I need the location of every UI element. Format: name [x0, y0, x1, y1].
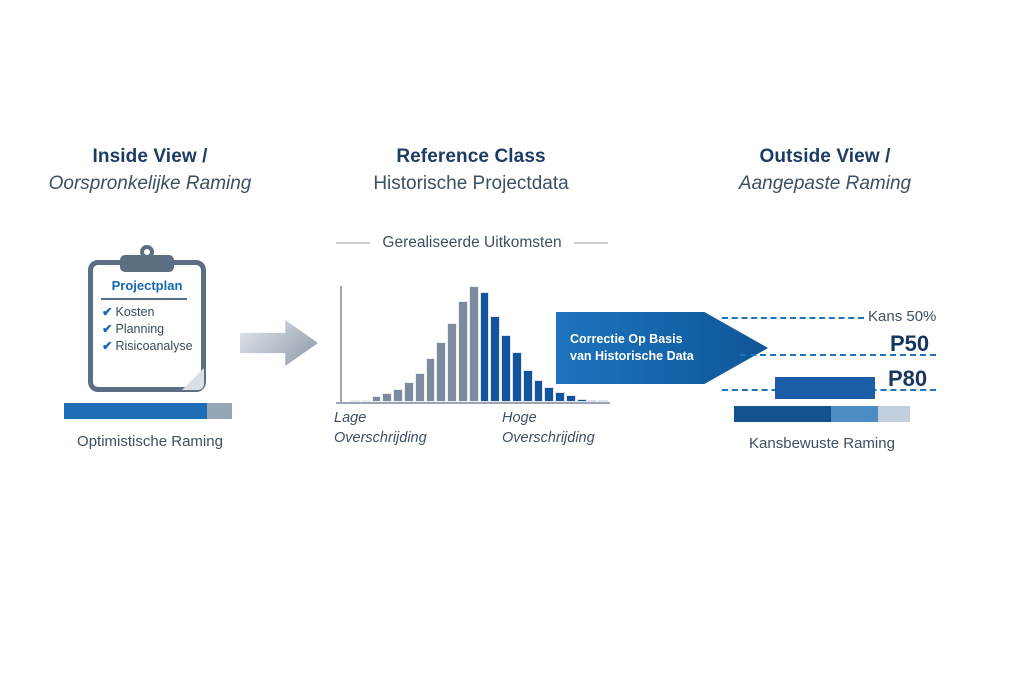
estimate-segment-contingency — [831, 406, 879, 422]
histogram-bar — [393, 389, 403, 402]
estimate-segment-reserve — [878, 406, 910, 422]
p80-indicator-bar — [775, 377, 875, 399]
optimistic-estimate-caption: Optimistische Raming — [20, 433, 280, 450]
histogram-bar — [382, 393, 392, 402]
checklist-item-label: Planning — [115, 322, 164, 336]
histogram-bar — [598, 400, 608, 402]
histogram-header: Gerealiseerde Uitkomsten — [336, 234, 608, 252]
reference-class-title: Reference Class — [340, 144, 602, 170]
checklist-item: ✔Planning — [102, 321, 198, 338]
histogram-bar — [350, 400, 360, 402]
clipboard-illustration: Projectplan ✔Kosten ✔Planning ✔Risicoana… — [88, 252, 206, 392]
check-icon: ✔ — [102, 322, 112, 336]
projectplan-divider — [101, 298, 187, 300]
axis-label-low: Lage Overschrijding — [334, 408, 427, 448]
inside-view-title: Inside View / — [20, 144, 280, 170]
header-rule-left — [336, 242, 370, 244]
axis-label-low-line2: Overschrijding — [334, 428, 427, 448]
histogram-bar — [372, 396, 382, 402]
histogram-bar — [458, 301, 468, 402]
axis-label-high: Hoge Overschrijding — [502, 408, 595, 448]
column-heading-reference-class: Reference Class Historische Projectdata — [340, 144, 602, 197]
histogram-bar — [588, 400, 598, 402]
checklist-item-label: Kosten — [115, 305, 154, 319]
correction-arrow-line2: van Historische Data — [570, 348, 720, 365]
check-icon: ✔ — [102, 339, 112, 353]
histogram-y-axis — [340, 286, 342, 404]
histogram-bar — [447, 323, 457, 402]
infographic-canvas: Inside View / Oorspronkelijke Raming Ref… — [0, 0, 1024, 683]
p80-label: P80 — [888, 366, 927, 392]
histogram-bar — [436, 342, 446, 402]
histogram-bar — [404, 382, 414, 402]
correction-arrow-text: Correctie Op Basis van Historische Data — [556, 331, 720, 365]
histogram-bar — [501, 335, 511, 402]
check-icon: ✔ — [102, 305, 112, 319]
axis-label-high-line2: Overschrijding — [502, 428, 595, 448]
axis-label-low-line1: Lage — [334, 408, 427, 428]
optimistic-estimate-bar-fill — [64, 403, 207, 419]
axis-label-high-line1: Hoge — [502, 408, 595, 428]
histogram-bar — [512, 352, 522, 402]
histogram-title: Gerealiseerde Uitkomsten — [378, 234, 566, 252]
reference-class-subtitle: Historische Projectdata — [340, 170, 602, 197]
p50-label: P50 — [890, 331, 929, 357]
column-heading-inside-view: Inside View / Oorspronkelijke Raming — [20, 144, 280, 197]
column-heading-outside-view: Outside View / Aangepaste Raming — [700, 144, 950, 197]
histogram-bar — [566, 395, 576, 402]
kans-50-dashed-line — [722, 317, 864, 319]
histogram-bar — [577, 399, 587, 402]
outside-view-subtitle: Aangepaste Raming — [700, 170, 950, 197]
estimate-segment-base — [734, 406, 831, 422]
correction-arrow-line1: Correctie Op Basis — [570, 331, 720, 348]
histogram-bar — [534, 380, 544, 402]
projectplan-checklist: ✔Kosten ✔Planning ✔Risicoanalyse — [102, 304, 198, 355]
checklist-item: ✔Kosten — [102, 304, 198, 321]
histogram-bar — [544, 387, 554, 402]
histogram-bar — [523, 370, 533, 402]
histogram-x-axis — [336, 402, 610, 404]
histogram-bar — [490, 316, 500, 402]
optimistic-estimate-bar — [64, 403, 232, 419]
probabilistic-estimate-bar — [734, 406, 910, 422]
histogram-bar — [426, 358, 436, 402]
header-rule-right — [574, 242, 608, 244]
clipboard-ring-icon — [140, 245, 154, 259]
correction-arrow-banner: Correctie Op Basis van Historische Data — [556, 312, 768, 384]
histogram-bar — [555, 392, 565, 402]
probabilistic-estimate-caption: Kansbewuste Raming — [700, 435, 944, 452]
inside-view-subtitle: Oorspronkelijke Raming — [20, 170, 280, 197]
histogram-bar — [415, 373, 425, 402]
checklist-item-label: Risicoanalyse — [115, 339, 192, 353]
grey-right-arrow-icon — [240, 320, 318, 366]
projectplan-heading: Projectplan — [101, 278, 193, 293]
histogram-bar — [469, 286, 479, 402]
histogram-bar — [361, 400, 371, 402]
kans-50-label: Kans 50% — [868, 308, 936, 325]
checklist-item: ✔Risicoanalyse — [102, 338, 198, 355]
histogram-bar — [480, 292, 490, 402]
outside-view-title: Outside View / — [700, 144, 950, 170]
